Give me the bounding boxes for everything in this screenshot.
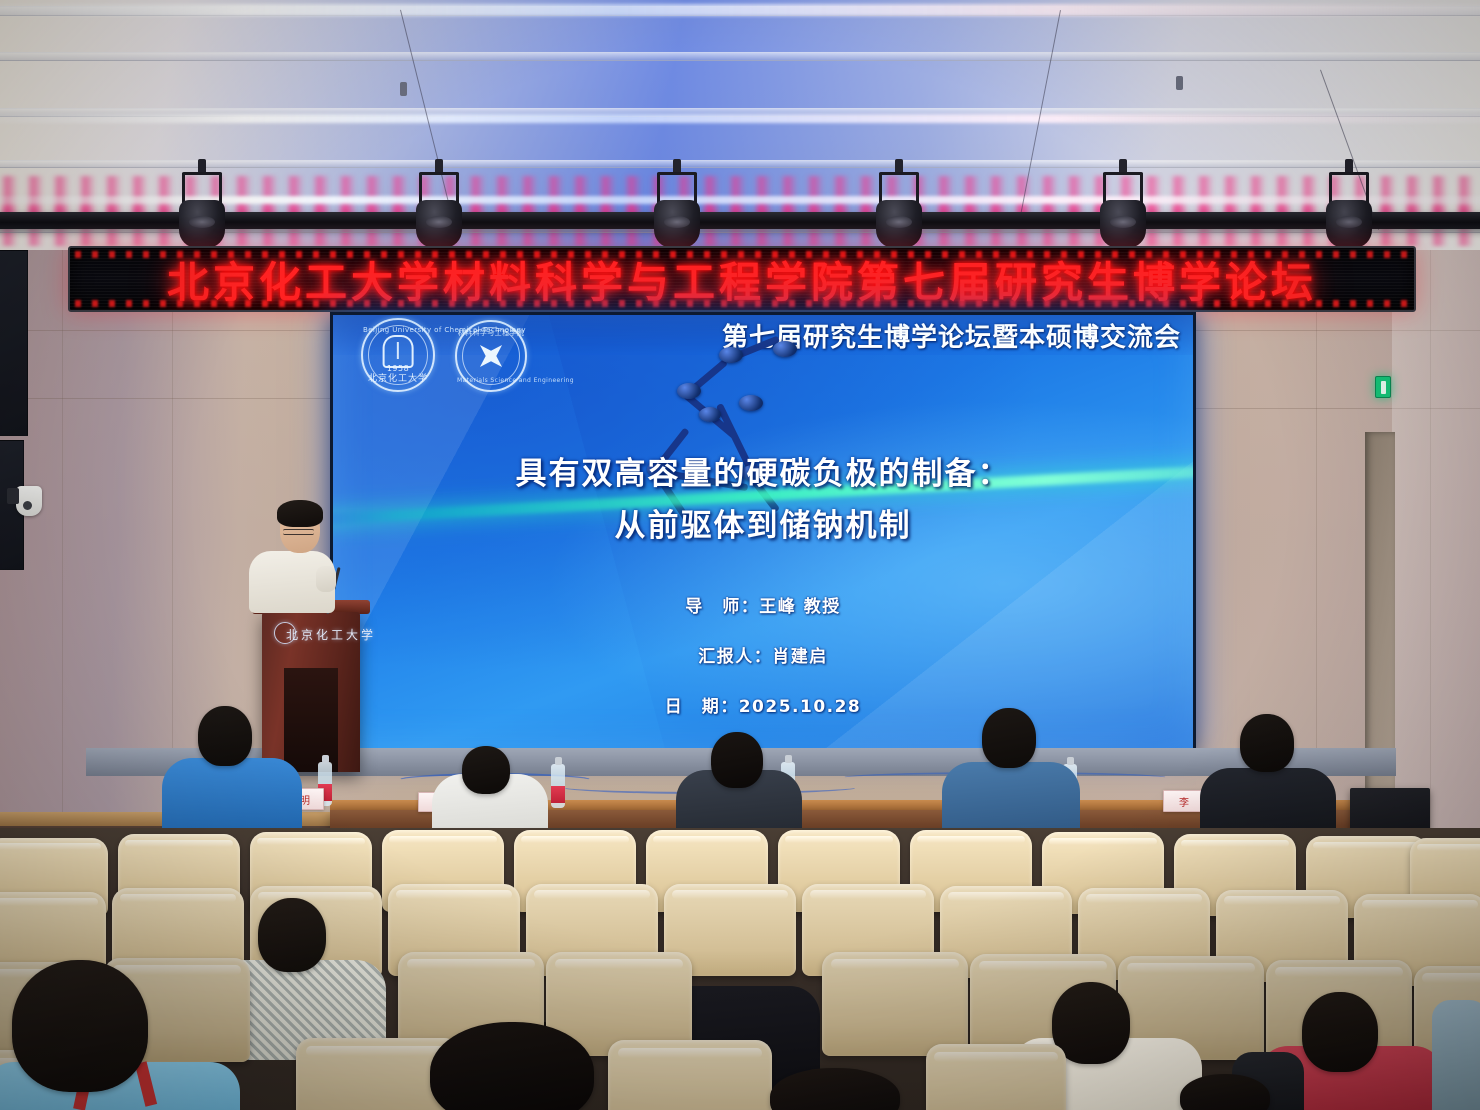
stage-light-fixture bbox=[872, 172, 926, 250]
attendee-foreground-head bbox=[1180, 1074, 1270, 1110]
led-pixel-strip bbox=[70, 300, 1414, 307]
ceiling-light-strip bbox=[0, 4, 1480, 16]
buct-university-logo: Beijing University of Chemical Technolog… bbox=[361, 318, 435, 392]
speaker-arm bbox=[316, 566, 336, 592]
wall-pilaster bbox=[1392, 236, 1480, 848]
light-lens bbox=[664, 216, 690, 228]
security-camera-icon bbox=[16, 486, 42, 516]
emergency-exit-sign-icon bbox=[1375, 376, 1391, 398]
stage-light-fixture bbox=[1322, 172, 1376, 250]
attendee-red-hoodie-head bbox=[1302, 992, 1378, 1072]
slide-meta-presenter: 汇报人：肖建启 bbox=[333, 642, 1193, 667]
logo-bottom-text: Materials Science and Engineering bbox=[457, 377, 525, 384]
seat[interactable] bbox=[608, 1040, 772, 1110]
attendee-blue-jacket-body bbox=[162, 758, 302, 838]
logo-year: 1958 bbox=[363, 364, 433, 373]
attendee-blue-shirt-head bbox=[982, 708, 1036, 768]
dark-wall-panel bbox=[0, 250, 28, 436]
institute-logo: 材料科学与工程学院 Materials Science and Engineer… bbox=[455, 320, 527, 392]
light-lens bbox=[1336, 216, 1362, 228]
logo-arc-text: Beijing University of Chemical Technolog… bbox=[363, 326, 433, 334]
projection-screen: Beijing University of Chemical Technolog… bbox=[330, 312, 1196, 752]
attendee-dark-top-head bbox=[711, 732, 763, 788]
stage-light-fixture bbox=[175, 172, 229, 250]
sprinkler-head-icon bbox=[1176, 76, 1183, 90]
seat[interactable] bbox=[926, 1044, 1066, 1110]
logo-cn-text: 北京化工大学 bbox=[363, 371, 433, 384]
attendee-foreground-head bbox=[430, 1022, 594, 1110]
slide-main-title-line2: 从前驱体到储钠机制 bbox=[333, 500, 1193, 545]
slide-meta-advisor: 导 师：王峰 教授 bbox=[333, 592, 1193, 617]
stage-light-fixture bbox=[650, 172, 704, 250]
logo-bell-icon bbox=[383, 335, 414, 367]
light-lens bbox=[886, 216, 912, 228]
wall-seam bbox=[0, 398, 340, 399]
bottle-label bbox=[551, 786, 565, 803]
ceiling-band bbox=[0, 160, 1480, 168]
attendee-gray-blue-top bbox=[1432, 1000, 1480, 1110]
attendee-blue-jacket-head bbox=[198, 706, 252, 766]
stage-light-fixture bbox=[1096, 172, 1150, 250]
mol-node bbox=[719, 347, 743, 363]
mol-node bbox=[739, 395, 763, 411]
light-lens bbox=[426, 216, 452, 228]
ceiling-band bbox=[0, 52, 1480, 61]
stage-light-fixture bbox=[412, 172, 466, 250]
logo-arc-text: 材料科学与工程学院 bbox=[457, 328, 525, 338]
speaker-hair bbox=[277, 500, 323, 527]
attendee-black-top-head bbox=[1240, 714, 1294, 772]
wall-seam bbox=[62, 236, 63, 846]
mol-node bbox=[677, 383, 701, 399]
slide-meta-date: 日 期：2025.10.28 bbox=[333, 692, 1193, 717]
mol-node bbox=[773, 341, 797, 357]
led-banner: 北京化工大学材料科学与工程学院第七届研究生博学论坛 bbox=[68, 246, 1416, 312]
speaker-glasses-icon bbox=[283, 529, 314, 535]
attendee-lightblue-head bbox=[12, 960, 148, 1092]
seat[interactable] bbox=[822, 952, 968, 1056]
podium-plate-text: 北京化工大学 bbox=[262, 626, 360, 643]
ceiling-light-strip bbox=[0, 114, 1480, 123]
wall-seam bbox=[1316, 236, 1317, 836]
podium-front-panel bbox=[284, 668, 338, 772]
name-card-text: 李 bbox=[1179, 794, 1191, 809]
attendee-white-shirt-head bbox=[462, 746, 510, 794]
light-lens bbox=[1110, 216, 1136, 228]
auditorium-scene: 北京化工大学材料科学与工程学院第七届研究生博学论坛 Beijing Univer… bbox=[0, 0, 1480, 1110]
podium: 北京化工大学 bbox=[262, 612, 360, 772]
star-icon bbox=[469, 334, 513, 378]
sprinkler-head-icon bbox=[400, 82, 407, 96]
water-bottle bbox=[551, 764, 565, 808]
light-lens bbox=[189, 216, 215, 228]
mol-node bbox=[699, 407, 721, 422]
attendee-checkered-shirt-head bbox=[258, 898, 326, 972]
slide-main-title-line1: 具有双高容量的硬碳负极的制备： bbox=[333, 448, 1193, 493]
